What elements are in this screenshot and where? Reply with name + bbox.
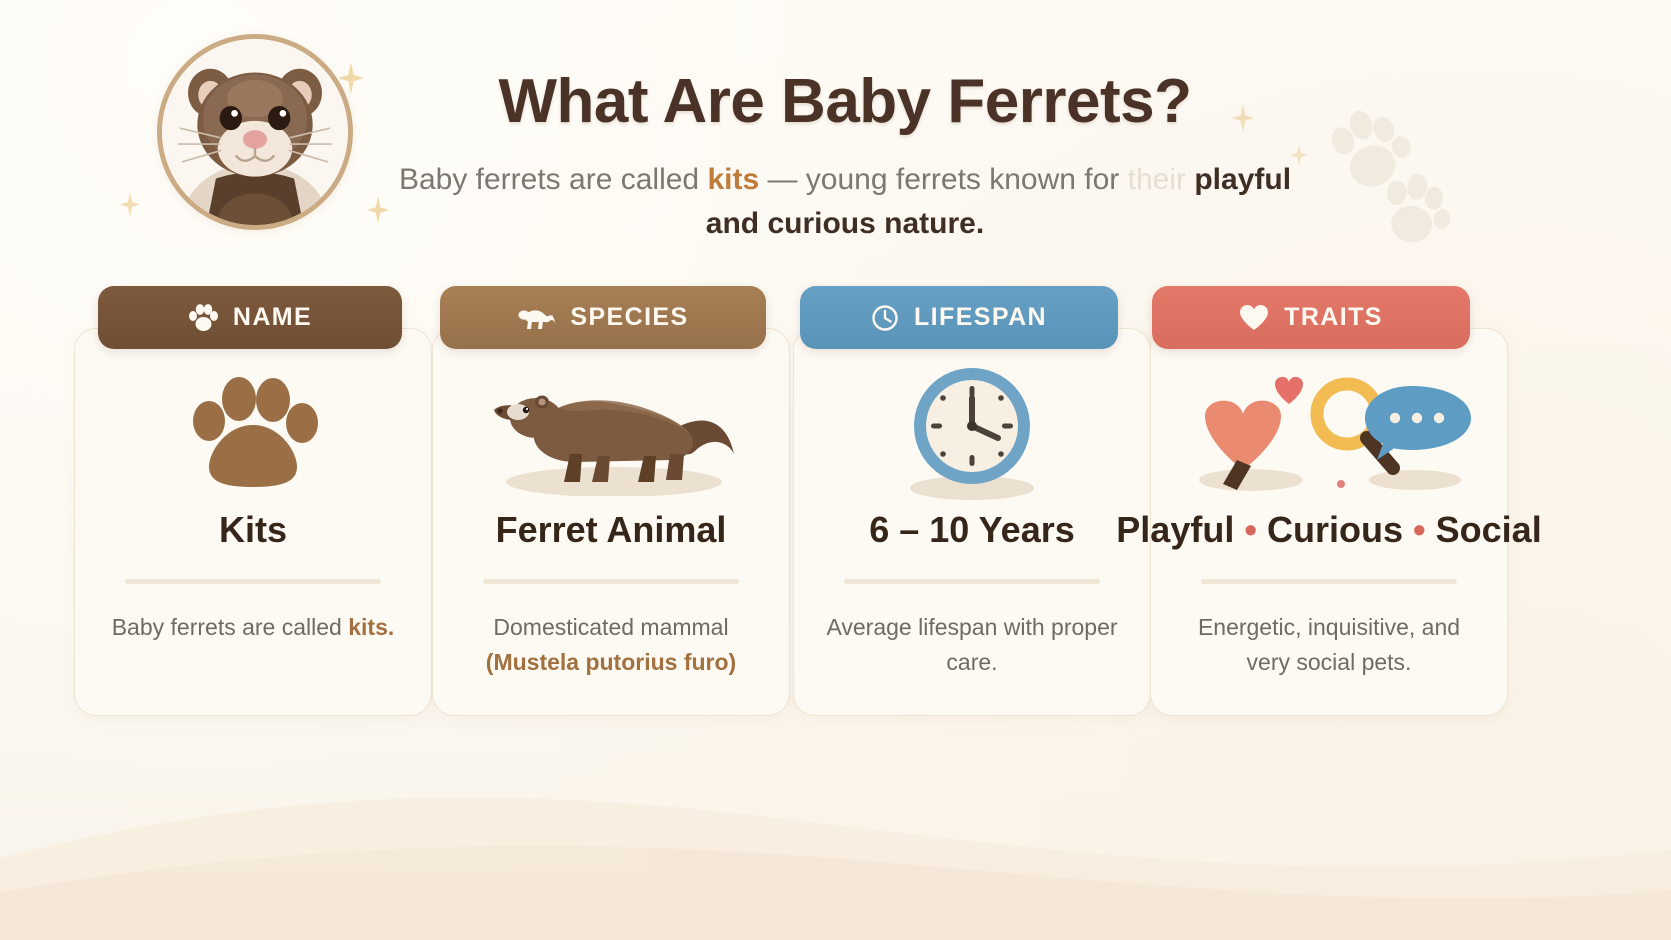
trait-0: Playful (1116, 509, 1234, 550)
card-description: Average lifespan with proper care. (817, 610, 1127, 679)
cards-section: Kits Baby ferrets are called kits. NAME (0, 286, 1671, 716)
pill-label: TRAITS (1284, 303, 1383, 332)
card-headline: Ferret Animal (496, 509, 727, 551)
ferret-illustration-art (484, 357, 738, 507)
ferret-silhouette-icon (517, 305, 555, 331)
card-desc-accent: kits. (348, 614, 394, 640)
traits-icons-art (1179, 357, 1479, 507)
card-traits[interactable]: Playful • Curious • Social Energetic, in… (1150, 328, 1508, 716)
card-pill-name[interactable]: NAME (98, 286, 402, 349)
pill-label: SPECIES (570, 303, 688, 332)
card-divider (125, 579, 381, 584)
trait-separator: • (1413, 509, 1426, 550)
subtitle-part2: — young ferrets known for (759, 163, 1128, 196)
card-description: Energetic, inquisitive, and very social … (1174, 610, 1484, 679)
trait-separator: • (1244, 509, 1257, 550)
card-species[interactable]: Ferret Animal Domesticated mammal (Muste… (432, 328, 790, 716)
card-name[interactable]: Kits Baby ferrets are called kits. (74, 328, 432, 716)
card-divider (1201, 579, 1457, 584)
bottom-curve-decoration (0, 730, 1671, 940)
subtitle-their: their (1128, 163, 1195, 196)
ferret-avatar (157, 34, 353, 230)
subtitle-keyword-kits: kits (707, 163, 759, 196)
ferret-face-icon (162, 39, 348, 225)
page-subtitle: Baby ferrets are called kits — young fer… (395, 158, 1295, 246)
paw-icon (188, 304, 218, 332)
clock-art (897, 357, 1047, 507)
card-pill-species[interactable]: SPECIES (440, 286, 766, 349)
card-divider (483, 579, 739, 584)
page-title: What Are Baby Ferrets? (395, 66, 1295, 137)
heart-icon (1239, 304, 1269, 331)
card-description: Domesticated mammal (Mustela putorius fu… (456, 610, 766, 679)
card-desc-lead: Baby ferrets are called (112, 614, 349, 640)
card-desc-lead: Energetic, inquisitive, and very social … (1198, 614, 1460, 675)
paw-print-art (187, 357, 319, 507)
card-desc-accent: (Mustela putorius furo) (486, 649, 736, 675)
card-headline: 6 – 10 Years (869, 509, 1075, 551)
trait-2: Social (1436, 509, 1542, 550)
card-desc-lead: Domesticated mammal (493, 614, 728, 640)
card-pill-traits[interactable]: TRAITS (1152, 286, 1470, 349)
card-headline: Kits (219, 509, 287, 551)
card-divider (844, 579, 1100, 584)
card-pill-lifespan[interactable]: LIFESPAN (800, 286, 1118, 349)
card-headline: Playful • Curious • Social (1116, 509, 1541, 551)
card-description: Baby ferrets are called kits. (98, 610, 408, 645)
subtitle-part1: Baby ferrets are called (399, 163, 707, 196)
card-desc-lead: Average lifespan with proper care. (826, 614, 1117, 675)
clock-icon (871, 304, 899, 332)
header-section: What Are Baby Ferrets? Baby ferrets are … (0, 0, 1671, 276)
trait-1: Curious (1267, 509, 1403, 550)
pill-label: LIFESPAN (914, 303, 1047, 332)
pill-label: NAME (233, 303, 312, 332)
card-lifespan[interactable]: 6 – 10 Years Average lifespan with prope… (793, 328, 1151, 716)
